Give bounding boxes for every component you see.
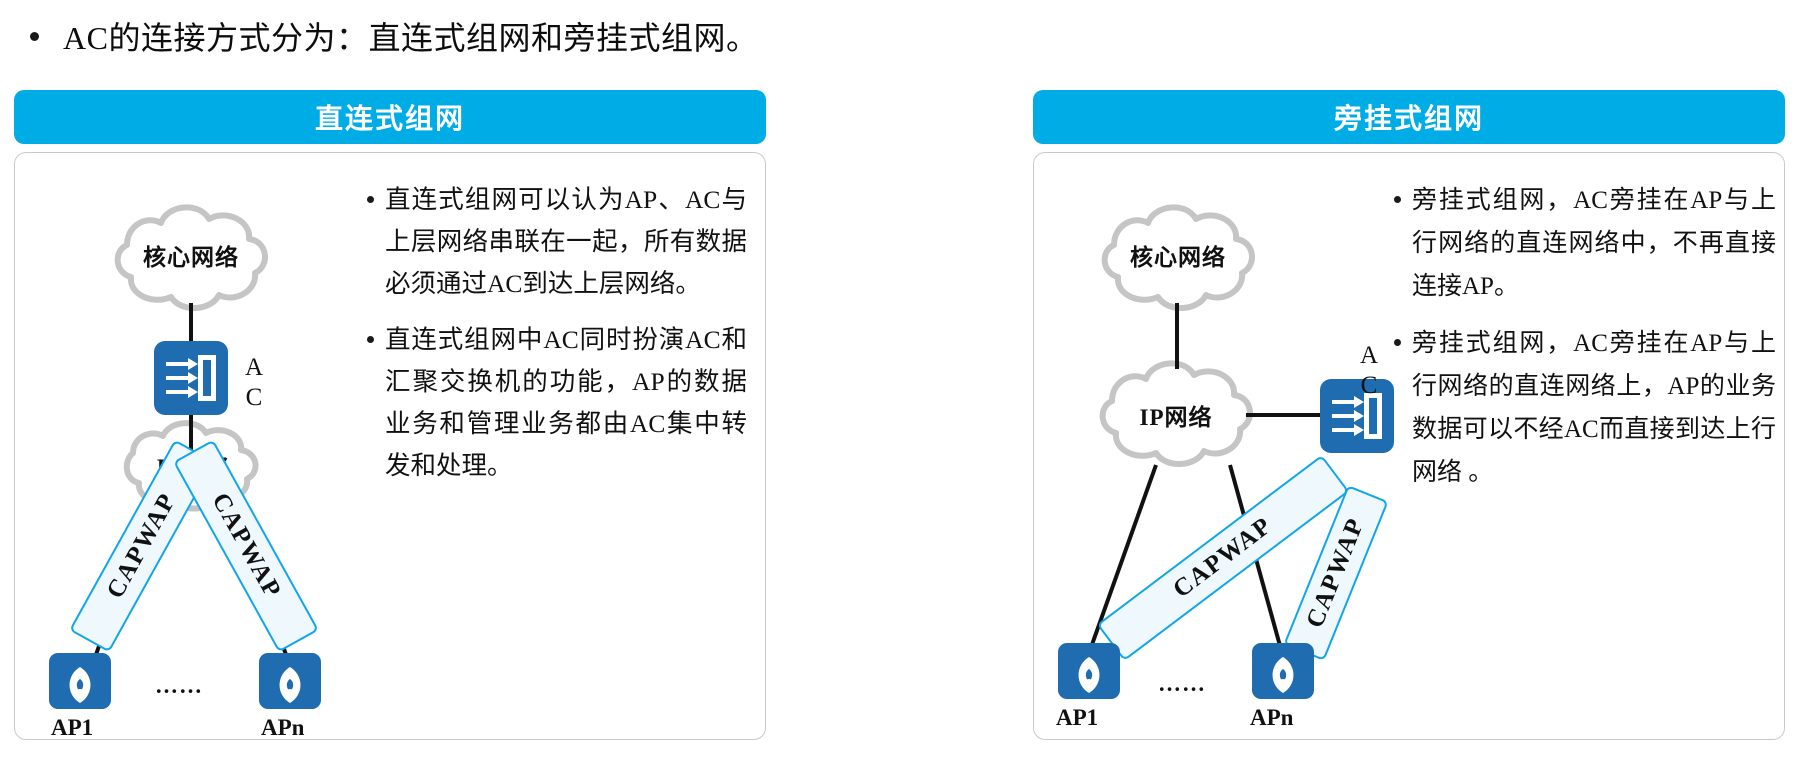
bullet-item: 直连式组网中AC同时扮演AC和汇聚交换机的功能，AP的数据业务和管理业务都由AC… xyxy=(367,319,747,487)
device-ac-left-label-line1: A xyxy=(241,353,267,383)
ac-switch-icon xyxy=(154,341,228,415)
device-ap1-right-label: AP1 xyxy=(1056,705,1098,731)
bullet-dot-icon xyxy=(367,196,374,203)
panel-bypass-connect: 旁挂式组网 核心网络 xyxy=(1033,90,1785,750)
panel-title-bypass: 旁挂式组网 xyxy=(1334,97,1484,137)
device-apn-right-label: APn xyxy=(1250,705,1293,731)
device-ac-left-label-line2: C xyxy=(241,383,267,413)
cloud-ip-network-right-label: IP网络 xyxy=(1096,365,1256,465)
panel-title-direct: 直连式组网 xyxy=(315,97,465,137)
bullet-item: 直连式组网可以认为AP、AC与上层网络串联在一起，所有数据必须通过AC到达上层网… xyxy=(367,179,747,305)
bullet-dot-icon xyxy=(1394,339,1401,346)
cloud-core-network-left-label: 核心网络 xyxy=(111,197,271,313)
wifi-ap-icon xyxy=(49,653,111,709)
bullet-item: 旁挂式组网，AC旁挂在AP与上行网络的直连网络中，不再直接连接AP。 xyxy=(1394,179,1776,308)
bullet-list-direct: 直连式组网可以认为AP、AC与上层网络串联在一起，所有数据必须通过AC到达上层网… xyxy=(367,179,747,501)
panel-body-bypass: 核心网络 IP网络 CAPWAP CAPWAP xyxy=(1033,152,1785,740)
slide-top-bullet-text: AC的连接方式分为：直连式组网和旁挂式组网。 xyxy=(63,13,758,59)
bullet-text: 直连式组网可以认为AP、AC与上层网络串联在一起，所有数据必须通过AC到达上层网… xyxy=(385,179,747,305)
ap-ellipsis-right: …… xyxy=(1158,671,1206,697)
device-apn-left[interactable] xyxy=(259,653,321,709)
slide-top-bullet: AC的连接方式分为：直连式组网和旁挂式组网。 xyxy=(30,8,1770,64)
bullet-text: 旁挂式组网，AC旁挂在AP与上行网络的直连网络中，不再直接连接AP。 xyxy=(1412,179,1776,308)
bullet-list-bypass: 旁挂式组网，AC旁挂在AP与上行网络的直连网络中，不再直接连接AP。 旁挂式组网… xyxy=(1394,179,1776,508)
cloud-core-network-right-label: 核心网络 xyxy=(1098,197,1258,313)
cloud-core-network-left: 核心网络 xyxy=(111,197,271,313)
bullet-dot-icon xyxy=(367,336,374,343)
panel-body-direct: 核心网络 IP网络 CAPWAP CAPWAP xyxy=(14,152,766,740)
panel-direct-connect: 直连式组网 核心网络 xyxy=(14,90,766,750)
device-ac-left[interactable] xyxy=(154,341,228,415)
bullet-text: 旁挂式组网，AC旁挂在AP与上行网络的直连网络上，AP的业务数据可以不经AC而直… xyxy=(1412,322,1776,494)
device-ap1-right[interactable] xyxy=(1058,643,1120,699)
device-ap1-left[interactable] xyxy=(49,653,111,709)
wifi-ap-icon xyxy=(1252,643,1314,699)
wifi-ap-icon xyxy=(1058,643,1120,699)
bullet-dot-icon xyxy=(1394,196,1401,203)
panel-header-bypass: 旁挂式组网 xyxy=(1033,90,1785,144)
wifi-ap-icon xyxy=(259,653,321,709)
bullet-dot-icon xyxy=(30,32,39,41)
device-ac-right-label: A C xyxy=(1356,341,1382,401)
cloud-ip-network-right: IP网络 xyxy=(1096,365,1256,465)
device-apn-right[interactable] xyxy=(1252,643,1314,699)
device-ac-left-label: A C xyxy=(241,353,267,413)
diagram-bypass-connect: 核心网络 IP网络 CAPWAP CAPWAP xyxy=(1034,153,1406,739)
bullet-text: 直连式组网中AC同时扮演AC和汇聚交换机的功能，AP的数据业务和管理业务都由AC… xyxy=(385,319,747,487)
device-ac-right-label-line1: A xyxy=(1356,341,1382,371)
bullet-item: 旁挂式组网，AC旁挂在AP与上行网络的直连网络上，AP的业务数据可以不经AC而直… xyxy=(1394,322,1776,494)
panel-header-direct: 直连式组网 xyxy=(14,90,766,144)
ap-ellipsis-left: …… xyxy=(155,673,203,699)
device-ap1-left-label: AP1 xyxy=(51,715,93,741)
device-apn-left-label: APn xyxy=(261,715,304,741)
cloud-core-network-right: 核心网络 xyxy=(1098,197,1258,313)
device-ac-right-label-line2: C xyxy=(1356,371,1382,401)
diagram-direct-connect: 核心网络 IP网络 CAPWAP CAPWAP xyxy=(15,153,367,739)
